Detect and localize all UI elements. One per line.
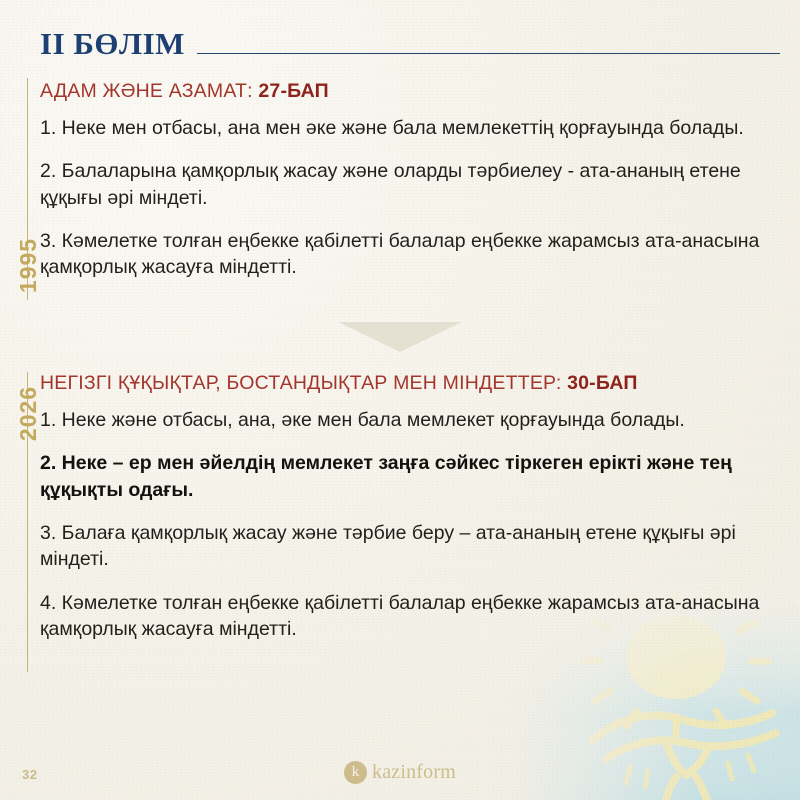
page-number: 32 <box>22 767 37 782</box>
section-2026-paragraph-4: 4. Кәмелетке толған еңбекке қабілетті ба… <box>40 590 782 643</box>
slide-header: II БӨЛІМ <box>40 28 780 59</box>
kazinform-wordmark: kazinform <box>372 761 456 784</box>
section-2026-paragraph-3: 3. Балаға қамқорлық жасау және тәрбие бе… <box>40 520 782 573</box>
kazinform-badge-icon: k <box>344 761 367 784</box>
page-title: II БӨЛІМ <box>40 28 185 59</box>
section-heading-1995-article: 27-БАП <box>258 80 329 102</box>
down-triangle-icon <box>338 322 462 352</box>
year-label-1995: 1995 <box>16 237 43 292</box>
section-1995-paragraph-2: 2. Балаларына қамқорлық жасау және олард… <box>40 158 782 211</box>
section-2026: НЕГІЗГІ ҚҰҚЫҚТАР, БОСТАНДЫҚТАР МЕН МІНДЕ… <box>40 372 782 642</box>
section-heading-2026-main: НЕГІЗГІ ҚҰҚЫҚТАР, БОСТАНДЫҚТАР МЕН МІНДЕ… <box>40 372 567 394</box>
section-heading-2026-article: 30-БАП <box>567 372 638 394</box>
section-1995-paragraph-1: 1. Неке мен отбасы, ана мен әке және бал… <box>40 115 782 141</box>
slide-canvas: II БӨЛІМ 1995 АДАМ ЖӘНЕ АЗАМАТ: 27-БАП 1… <box>0 0 800 800</box>
kazinform-logo: k kazinform <box>344 761 456 784</box>
section-2026-paragraph-2: 2. Неке – ер мен әйелдің мемлекет заңға … <box>40 450 782 503</box>
section-heading-1995-main: АДАМ ЖӘНЕ АЗАМАТ: <box>40 80 258 102</box>
section-1995: АДАМ ЖӘНЕ АЗАМАТ: 27-БАП 1. Неке мен отб… <box>40 80 782 281</box>
section-2026-paragraph-1: 1. Неке және отбасы, ана, әке мен бала м… <box>40 407 782 433</box>
title-divider-rule <box>197 53 780 54</box>
year-label-2026: 2026 <box>16 385 43 440</box>
section-1995-paragraph-3: 3. Кәмелетке толған еңбекке қабілетті ба… <box>40 228 782 281</box>
section-heading-2026: НЕГІЗГІ ҚҰҚЫҚТАР, БОСТАНДЫҚТАР МЕН МІНДЕ… <box>40 372 782 395</box>
section-heading-1995: АДАМ ЖӘНЕ АЗАМАТ: 27-БАП <box>40 80 782 103</box>
